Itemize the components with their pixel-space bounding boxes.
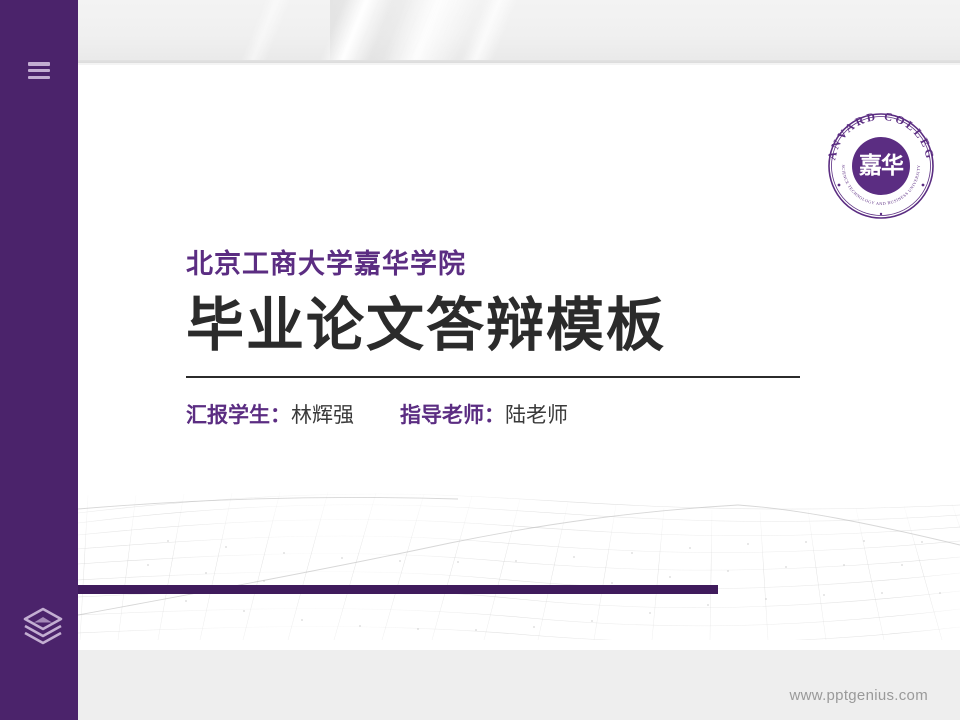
advisor-name: 陆老师 bbox=[505, 403, 568, 428]
footer-url: www.pptgenius.com bbox=[790, 687, 929, 704]
subtitle: 北京工商大学嘉华学院 bbox=[186, 248, 826, 280]
wireframe-mesh-graphic bbox=[78, 465, 960, 640]
student-label: 汇报学生： bbox=[186, 403, 291, 428]
presentation-slide: CANVARD COLLEGE SCIENCE TECHNOLOGY AND B… bbox=[0, 0, 960, 720]
student-name: 林辉强 bbox=[291, 403, 354, 428]
hamburger-icon[interactable] bbox=[28, 62, 50, 79]
page-title: 毕业论文答辩模板 bbox=[186, 294, 826, 359]
ribbon-stripe bbox=[210, 0, 315, 63]
left-sidebar bbox=[0, 0, 78, 720]
title-text-block: 北京工商大学嘉华学院 毕业论文答辩模板 汇报学生： 林辉强 指导老师： 陆老师 bbox=[186, 248, 826, 429]
title-divider bbox=[186, 376, 800, 378]
advisor-label: 指导老师： bbox=[400, 403, 505, 428]
bottom-accent-bar bbox=[74, 585, 718, 594]
layers-icon[interactable] bbox=[21, 605, 65, 645]
top-ribbon-band bbox=[0, 0, 960, 63]
college-seal-logo: CANVARD COLLEGE SCIENCE TECHNOLOGY AND B… bbox=[818, 103, 944, 229]
slide-card: CANVARD COLLEGE SCIENCE TECHNOLOGY AND B… bbox=[78, 63, 960, 650]
seal-center-characters: 嘉华 bbox=[859, 152, 904, 179]
presenter-row: 汇报学生： 林辉强 指导老师： 陆老师 bbox=[186, 403, 826, 428]
